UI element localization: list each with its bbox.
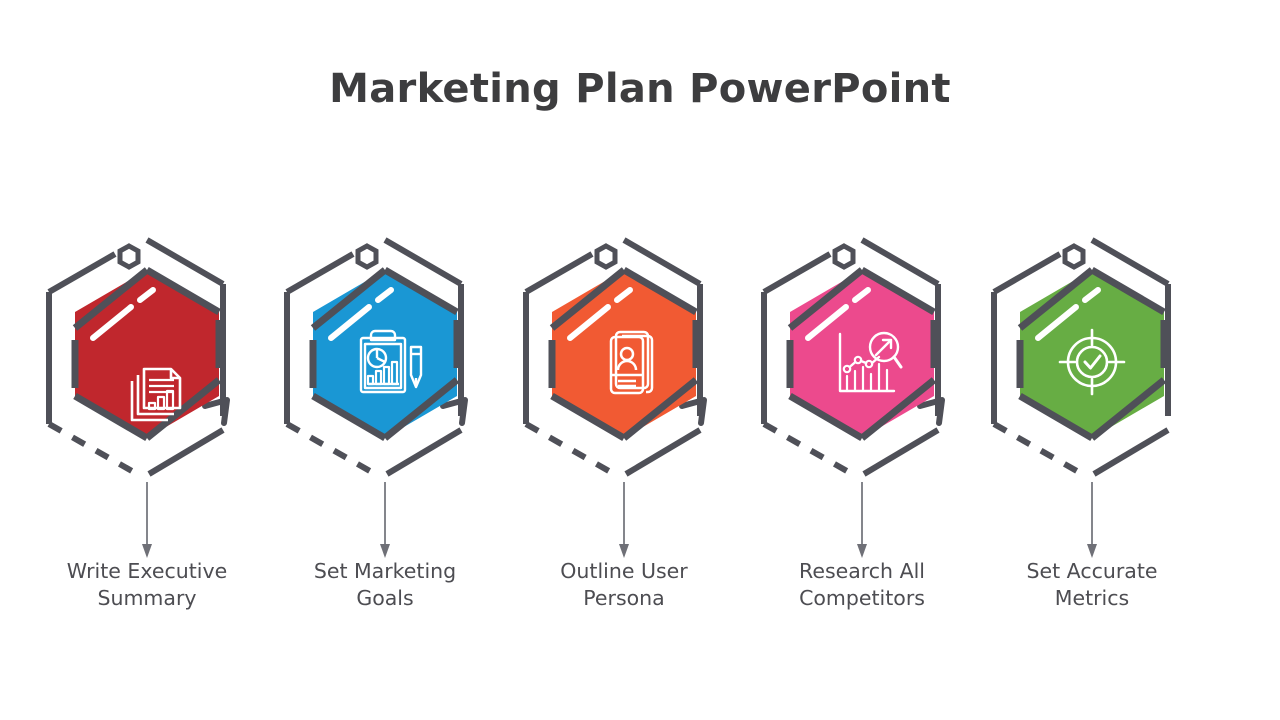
step-label-line2: Summary — [27, 585, 267, 612]
step-label-1: Write Executive Summary — [27, 558, 267, 612]
step-label-line1: Set Accurate — [972, 558, 1212, 585]
step-item-1[interactable]: Write Executive Summary — [27, 228, 267, 668]
step-item-3[interactable]: Outline User Persona — [504, 228, 744, 668]
node-hexagon-4 — [835, 246, 853, 267]
node-hexagon-5 — [1065, 246, 1083, 267]
step-label-line1: Set Marketing — [265, 558, 505, 585]
frame-edge-top-left — [49, 254, 115, 292]
frame-edge-bottom-right — [149, 430, 223, 474]
step-label-line2: Competitors — [742, 585, 982, 612]
step-label-line2: Goals — [265, 585, 505, 612]
hexagon-graphic-3[interactable] — [504, 228, 744, 488]
progress-arrowhead-4 — [920, 400, 942, 423]
hexagon-graphic-5[interactable] — [972, 228, 1212, 488]
step-item-5[interactable]: Set Accurate Metrics — [972, 228, 1212, 668]
step-label-4: Research All Competitors — [742, 558, 982, 612]
connector-arrow-1 — [27, 480, 267, 562]
step-label-2: Set Marketing Goals — [265, 558, 505, 612]
hexagon-graphic-1[interactable] — [27, 228, 267, 488]
progress-arrowhead-3 — [682, 400, 704, 423]
frame-spacer — [57, 440, 66, 462]
slide-canvas: Marketing Plan PowerPoint — [0, 0, 1280, 720]
step-item-2[interactable]: Set Marketing Goals — [265, 228, 505, 668]
step-label-line2: Persona — [504, 585, 744, 612]
hexagon-graphic-2[interactable] — [265, 228, 505, 488]
frame-edge-bottom-left-dashed — [49, 424, 139, 475]
node-hexagon-3 — [597, 246, 615, 267]
step-label-line1: Research All — [742, 558, 982, 585]
connector-arrow-3 — [504, 480, 744, 562]
node-hexagon-1 — [120, 246, 138, 267]
connector-arrow-4 — [742, 480, 982, 562]
page-title: Marketing Plan PowerPoint — [0, 66, 1280, 112]
step-label-line1: Outline User — [504, 558, 744, 585]
connector-arrow-2 — [265, 480, 505, 562]
connector-arrow-5 — [972, 480, 1212, 562]
progress-arrowhead-2 — [443, 400, 465, 423]
step-item-4[interactable]: Research All Competitors — [742, 228, 982, 668]
progress-arrowhead-1 — [205, 400, 227, 423]
node-hexagon-2 — [358, 246, 376, 267]
step-label-5: Set Accurate Metrics — [972, 558, 1212, 612]
hexagon-graphic-4[interactable] — [742, 228, 982, 488]
step-label-line2: Metrics — [972, 585, 1212, 612]
step-label-line1: Write Executive — [27, 558, 267, 585]
step-label-3: Outline User Persona — [504, 558, 744, 612]
